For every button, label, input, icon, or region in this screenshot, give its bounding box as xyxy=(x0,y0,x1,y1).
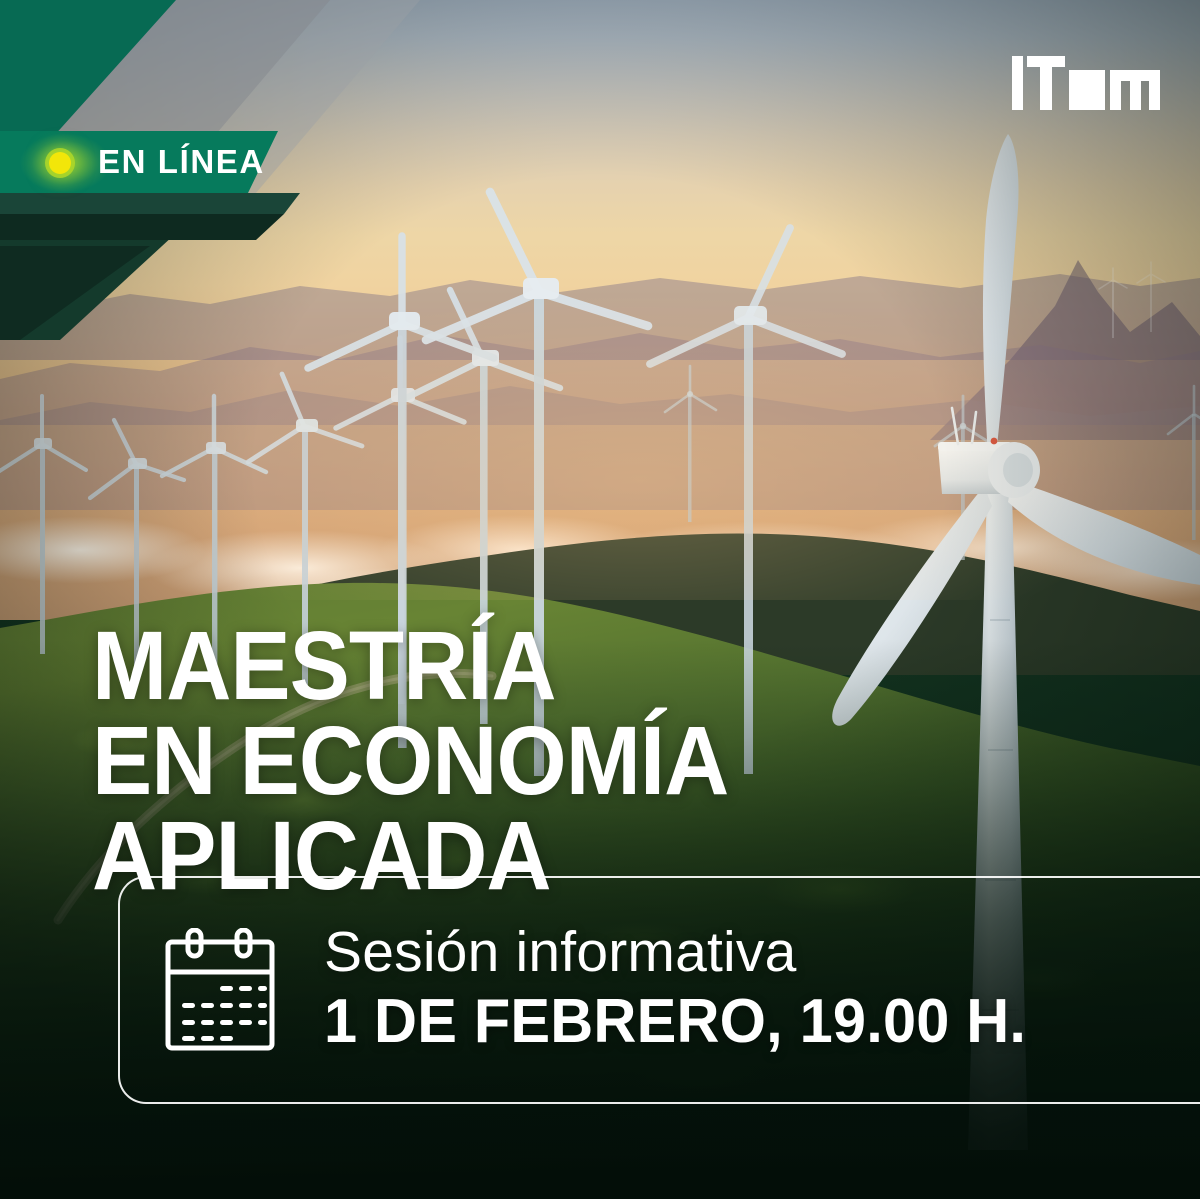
session-info-card: Sesión informativa 1 DE FEBRERO, 19.00 H… xyxy=(118,876,1200,1104)
promo-poster: EN LÍNEA MAESTRÍA EN ECONOMÍA APLICADA xyxy=(0,0,1200,1199)
itam-logo xyxy=(1012,56,1160,110)
calendar-icon xyxy=(164,928,276,1052)
headline-line-2: EN ECONOMÍA APLICADA xyxy=(92,713,1096,903)
online-badge: EN LÍNEA xyxy=(0,131,350,193)
session-label: Sesión informativa xyxy=(324,923,1055,983)
headline-line-1: MAESTRÍA xyxy=(92,611,556,720)
wind-turbine-tiny-2 xyxy=(1134,262,1168,332)
wind-turbine-tiny-1 xyxy=(1096,268,1130,338)
page-title: MAESTRÍA EN ECONOMÍA APLICADA xyxy=(92,618,1096,903)
session-info-text: Sesión informativa 1 DE FEBRERO, 19.00 H… xyxy=(324,923,1055,1056)
session-date-time: 1 DE FEBRERO, 19.00 H. xyxy=(324,987,1026,1056)
wind-turbine-row-1 xyxy=(0,404,90,654)
status-dot-icon xyxy=(49,152,71,174)
badge-label: EN LÍNEA xyxy=(98,131,265,193)
